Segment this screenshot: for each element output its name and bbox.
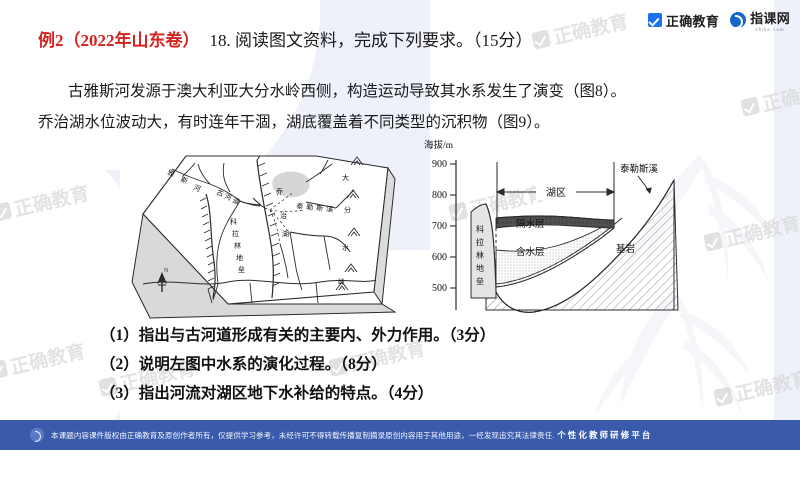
figure-8-block-diagram: N 雅 斯 河 古 河 道 科 拉 林 地 垒 乔 治 湖 泰 勒 斯 (120, 132, 400, 322)
label-lake-area: 湖区 (546, 187, 566, 199)
label-great-dividing-range: 分 (344, 205, 351, 214)
question-item-1: （1）指出与古河道形成有关的主要内、外力作用。（3分） (100, 323, 495, 345)
label-horst: 垒 (476, 276, 484, 286)
axis-tick-900: 900 (432, 159, 447, 170)
watermark-check-icon (531, 29, 551, 49)
footer-copyright-notice: 本课题内容课件版权由正确教育及原创作者所有，仅提供学习参考，未经许可不得转载传播… (51, 430, 554, 441)
label-horst: 地 (476, 263, 484, 273)
label-lake-george: 治 (280, 211, 287, 220)
example-label: 例2（2022年山东卷） (38, 31, 200, 50)
watermark: 正确教育 (530, 7, 631, 55)
watermark-text: 正确教育 (550, 7, 630, 50)
label-horst: 拉 (232, 229, 239, 238)
brand-primary-name: 正确教育 (666, 11, 719, 30)
brand-zhengque[interactable]: 正确教育 (648, 11, 719, 30)
label-great-dividing-range: 水 (342, 243, 349, 252)
question-number: 18. 阅读图文资料，完成下列要求。（15分） (210, 31, 533, 50)
brand-bar: 正确教育 指课网 zhike.com (648, 8, 790, 32)
label-horst: 拉 (476, 237, 484, 247)
question-item-2: （2）说明左图中水系的演化过程。（8分） (100, 352, 387, 374)
label-horst: 科 (476, 224, 484, 234)
passage-line-2: 乔治湖水位波动大，有时连年干涸，湖底覆盖着不同类型的沉积物（图9）。 (38, 110, 550, 132)
label-lake-george: 湖 (282, 229, 289, 238)
footer-logo-icon (30, 428, 44, 442)
svg-text:N: N (164, 268, 169, 274)
label-taylors-creek: 斯 (316, 203, 324, 213)
footer-bar: 本课题内容课件版权由正确教育及原创作者所有，仅提供学习参考，未经许可不得转载传播… (0, 420, 800, 450)
label-horst: 地 (236, 253, 243, 262)
brand-secondary-name: 指课网 (750, 8, 790, 27)
passage-line-1: 古雅斯河发源于澳大利亚大分水岭西侧，构造运动导致其水系发生了演变（图8）。 (38, 79, 626, 101)
axis-tick-600: 600 (432, 252, 447, 263)
label-horst: 林 (234, 241, 241, 250)
page-title: 例2（2022年山东卷）18. 阅读图文资料，完成下列要求。（15分） (38, 26, 533, 51)
axis-tick-700: 700 (432, 221, 447, 232)
watermark-check-icon (740, 96, 760, 116)
checkbox-check-icon (648, 13, 662, 27)
label-lake-george: 乔 (276, 188, 283, 196)
label-horst: 林 (476, 250, 484, 260)
label-horst: 垒 (238, 265, 245, 274)
axis-tick-800: 800 (432, 190, 447, 201)
label-taylors-creek: 溪 (326, 204, 334, 214)
label-aquiclude: 隔水层 (516, 218, 545, 230)
label-great-dividing-range: 岭 (338, 277, 345, 286)
question-item-3: （3）指出河流对湖区地下水补给的特点。（4分） (100, 381, 433, 403)
label-bedrock: 基岩 (616, 243, 635, 255)
footer-slogan: 个性化教师研修平台 (557, 429, 652, 441)
label-taylors-creek: 泰 (296, 201, 304, 211)
axis-label-elevation: 海拔/m (424, 139, 454, 151)
label-aquifer: 含水层 (516, 246, 545, 258)
brand-secondary-sub: zhike.com (750, 27, 790, 32)
brand-zhike[interactable]: 指课网 zhike.com (730, 8, 790, 32)
label-horst: 科 (230, 217, 237, 226)
label-great-dividing-range: 大 (342, 173, 349, 182)
label-taylors-creek: 泰勒斯溪 (620, 163, 659, 175)
label-taylors-creek: 勒 (306, 202, 314, 212)
zhike-circle-icon (730, 12, 746, 28)
figures-container: N 雅 斯 河 古 河 道 科 拉 林 地 垒 乔 治 湖 泰 勒 斯 (120, 132, 680, 322)
axis-tick-500: 500 (432, 283, 447, 294)
figure-9-cross-section: 900 800 700 600 500 海拔/m (408, 132, 680, 322)
